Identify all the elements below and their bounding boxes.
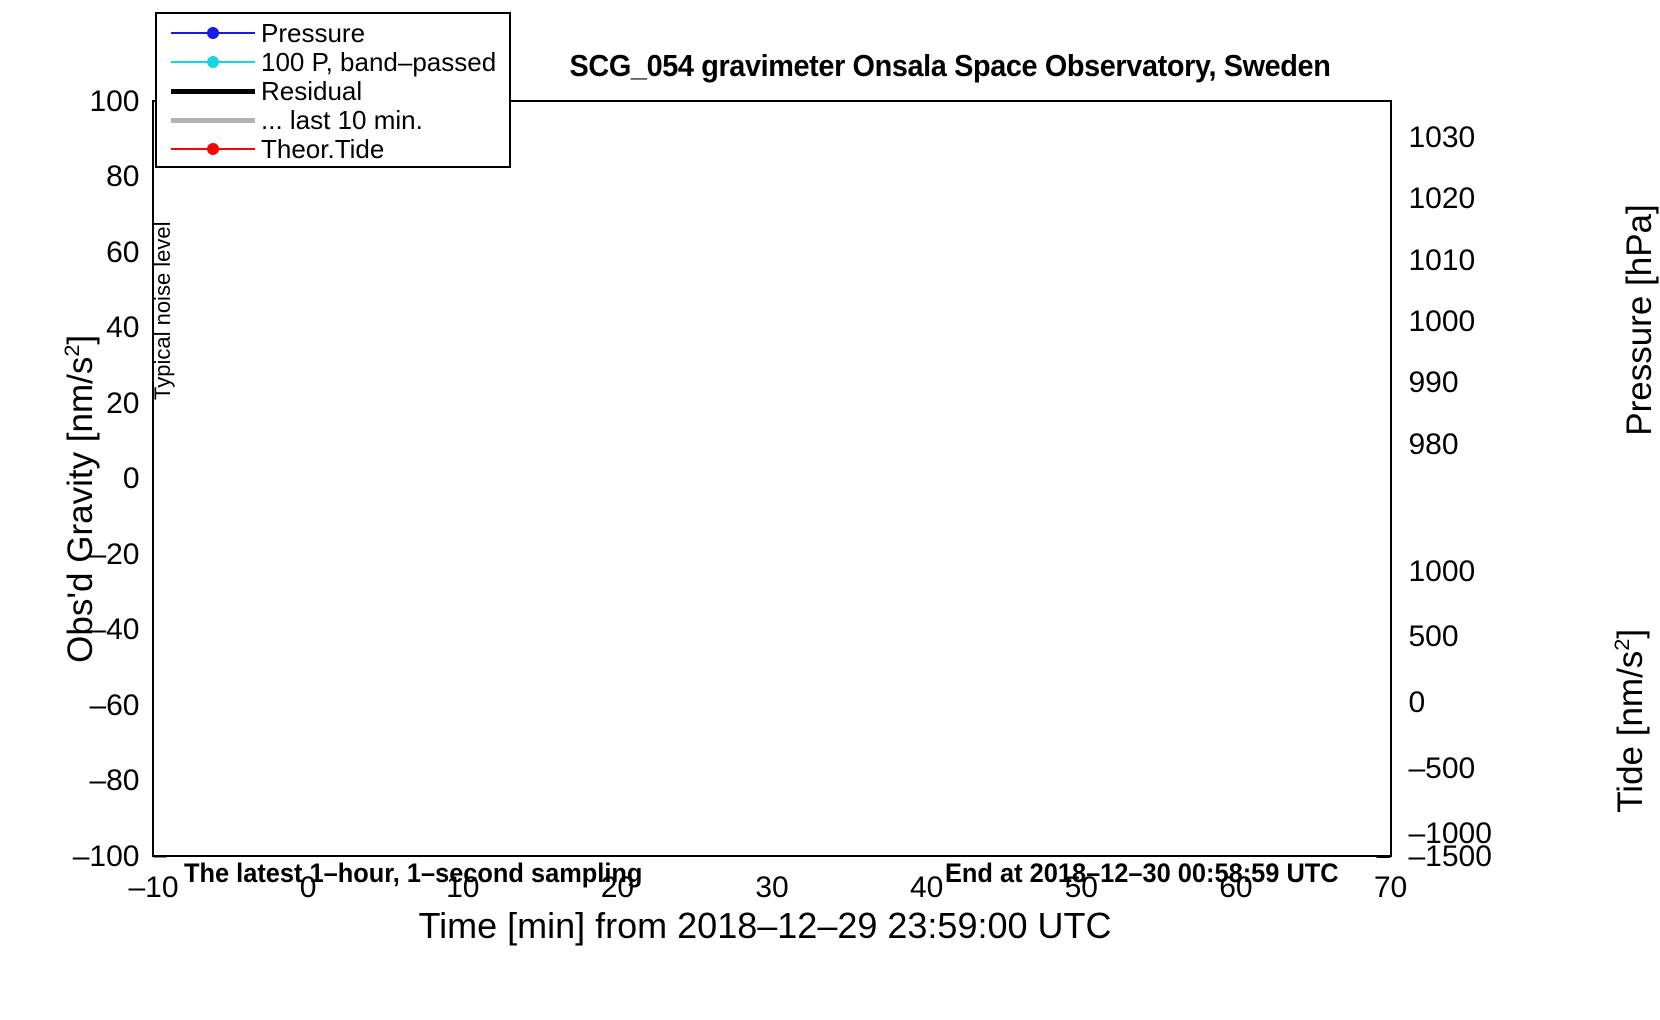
legend-item[interactable]: Pressure (157, 18, 509, 47)
page-title: SCG_054 gravimeter Onsala Space Observat… (532, 48, 1369, 84)
tide-tick-label: 1000 (1409, 557, 1476, 587)
pressure-tick-label: 980 (1409, 430, 1459, 460)
y-axis-left-label-exponent: 2 (59, 345, 84, 357)
legend-label: Residual (261, 77, 362, 105)
legend-swatch-bandpassed (165, 52, 261, 72)
pressure-tick-label: 1000 (1409, 307, 1476, 337)
legend-swatch-pressure (165, 23, 261, 43)
plot-area (152, 100, 1392, 857)
x-axis-label: Time [min] from 2018–12–29 23:59:00 UTC (0, 905, 1530, 947)
x-axis-tick-label: 40 (910, 873, 943, 903)
legend: Pressure 100 P, band–passed Residual ...… (155, 12, 511, 168)
y-axis-tide-label: Tide [nm/s2] (1609, 551, 1651, 891)
pressure-tick-label: 1020 (1409, 184, 1476, 214)
pressure-tick-label: 990 (1409, 368, 1459, 398)
y-axis-left-tick-label: –80 (89, 766, 139, 796)
y-axis-left-tick-label: 40 (106, 313, 139, 343)
legend-label: 100 P, band–passed (261, 48, 496, 76)
y-axis-left-tick-label: 0 (123, 464, 140, 494)
y-axis-left-tick-label: –100 (73, 842, 140, 872)
footer-note-right: End at 2018–12–30 00:58:59 UTC (945, 858, 1339, 889)
legend-item[interactable]: 100 P, band–passed (157, 47, 509, 76)
noise-level-label: Typical noise level (150, 160, 176, 400)
tide-tick-label: 0 (1409, 688, 1426, 718)
legend-label: ... last 10 min. (261, 106, 423, 134)
y-axis-tide-label-tail: ] (1611, 629, 1650, 639)
y-axis-tide-label-exponent: 2 (1609, 639, 1634, 651)
y-axis-left-tick-label: 80 (106, 162, 139, 192)
y-axis-left-label-text: Obs'd Gravity [nm/s (61, 357, 100, 663)
pressure-tick-label: 1030 (1409, 123, 1476, 153)
legend-item[interactable]: Residual (157, 76, 509, 105)
y-axis-left-tick-label: 100 (89, 87, 139, 117)
tide-tick-label: –1000 (1409, 819, 1492, 849)
y-axis-left-tick-label: 60 (106, 238, 139, 268)
legend-item[interactable]: ... last 10 min. (157, 105, 509, 134)
tide-tick-label: –500 (1409, 754, 1476, 784)
pressure-tick-label: 1010 (1409, 246, 1476, 276)
legend-label: Pressure (261, 19, 365, 47)
legend-swatch-last10 (165, 110, 261, 130)
x-axis-tick-label: –10 (128, 873, 178, 903)
x-axis-tick-label: 30 (755, 873, 788, 903)
legend-swatch-tide (165, 139, 261, 159)
y-axis-left-label: Obs'd Gravity [nm/s2] (59, 279, 101, 719)
tide-tick-label: 500 (1409, 622, 1459, 652)
x-axis-tick-label: 70 (1374, 873, 1407, 903)
legend-label: Theor.Tide (261, 135, 384, 163)
y-axis-left-label-tail: ] (61, 335, 100, 345)
y-axis-tide-label-text: Tide [nm/s (1611, 651, 1650, 813)
legend-swatch-residual (165, 81, 261, 101)
footer-note-left: The latest 1–hour, 1–second sampling (184, 858, 642, 889)
y-axis-pressure-label: Pressure [hPa] (1620, 120, 1660, 520)
chart-page: SCG_054 gravimeter Onsala Space Observat… (0, 0, 1660, 1020)
legend-item[interactable]: Theor.Tide (157, 134, 509, 163)
y-axis-left-tick-label: 20 (106, 389, 139, 419)
